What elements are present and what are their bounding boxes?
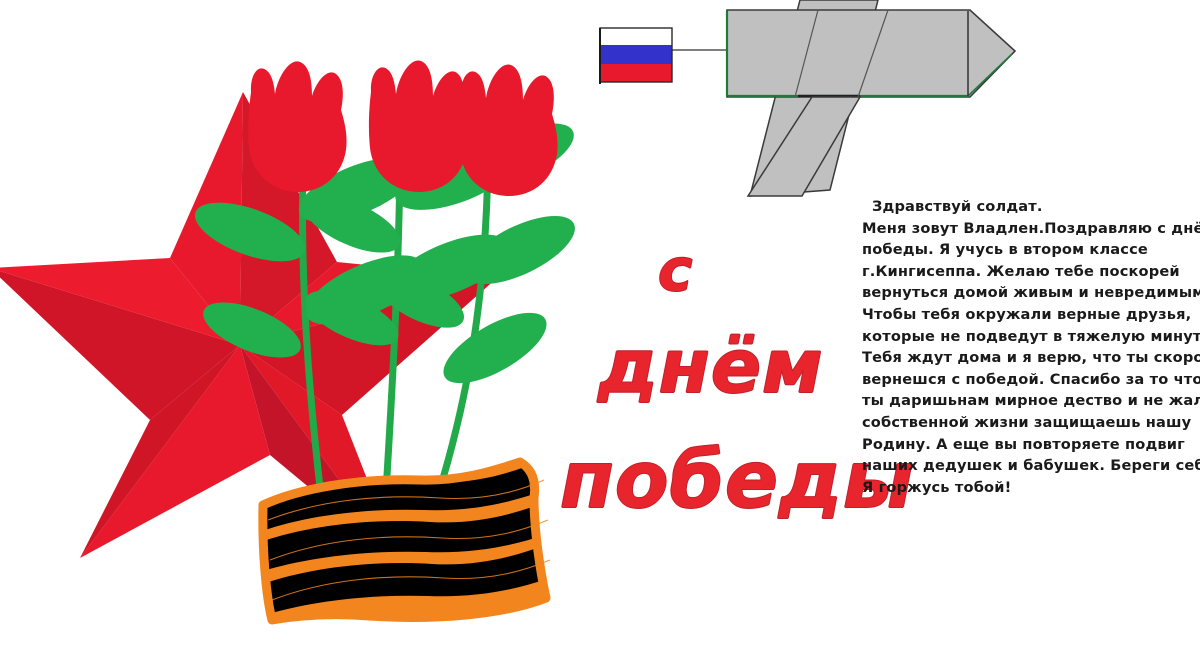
letter-line: Здравствуй солдат. (862, 196, 1188, 218)
letter-line: ты даришьнам мирное дество и не жалея (862, 390, 1188, 412)
letter-line: Меня зовут Владлен.Поздравляю с днём (862, 218, 1188, 240)
letter-line: вернешся с победой. Спасибо за то что (862, 369, 1188, 391)
letter-line: Родину. А еще вы повторяете подвиг (862, 434, 1188, 456)
letter-line: г.Кингисеппа. Желаю тебе поскорей (862, 261, 1188, 283)
letter-line: Тебя ждут дома и я верю, что ты скоро (862, 347, 1188, 369)
letter-line: собственной жизни защищаешь нашу (862, 412, 1188, 434)
letter-text-block: Здравствуй солдат. Меня зовут Владлен.По… (862, 196, 1188, 498)
letter-line: которые не подведут в тяжелую минуту. (862, 326, 1188, 348)
victory-day-greeting-card: с днём победы Здравствуй солдат. Меня зо… (0, 0, 1200, 647)
letter-line: Я горжусь тобой! (862, 477, 1188, 499)
letter-line: наших дедушек и бабушек. Береги себя. (862, 455, 1188, 477)
letter-line: Чтобы тебя окружали верные друзья, (862, 304, 1188, 326)
letter-line: победы. Я учусь в втором классе (862, 239, 1188, 261)
letter-line: вернуться домой живым и невредимым. (862, 282, 1188, 304)
